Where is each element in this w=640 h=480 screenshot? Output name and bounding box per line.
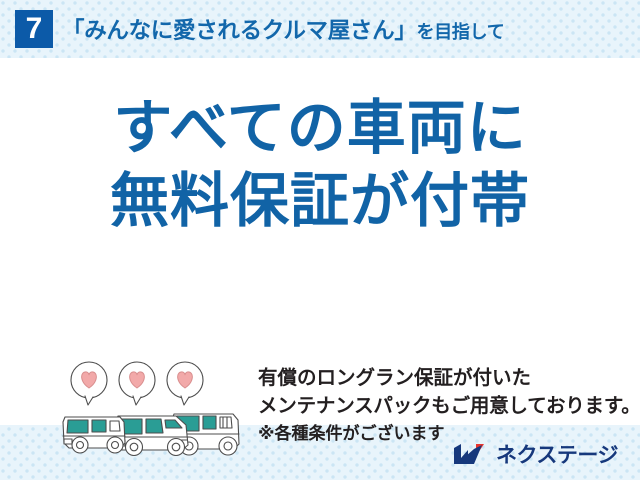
content-card: すべての車両に 無料保証が付帯 [0,58,640,425]
headline-line-1: すべての車両に [0,98,640,157]
heart-bubble-1 [71,362,107,405]
header-band: 7 「みんなに愛されるクルマ屋さん」を目指して [0,0,640,58]
brand-lockup: ネクステージ [454,439,618,469]
heart-bubble-3 [167,362,203,405]
header-title: 「みんなに愛されるクルマ屋さん」を目指して [62,13,505,45]
header-title-quoted: 「みんなに愛されるクルマ屋さん」 [62,18,417,43]
headline-line-2: 無料保証が付帯 [0,171,640,230]
description-line-2: メンテナンスパックもご用意しております。 [258,392,638,420]
nexstage-logo-icon [454,442,488,466]
header-title-suffix: を目指して [417,22,505,42]
brand-name: ネクステージ [496,439,618,469]
promotional-poster: 7 「みんなに愛されるクルマ屋さん」を目指して すべての車両に 無料保証が付帯 [0,0,640,480]
heart-bubble-2 [119,362,155,405]
description-line-1: 有償のロングラン保証が付いた [258,364,638,392]
footer-band: ネクステージ [0,425,640,480]
page-title: すべての車両に 無料保証が付帯 [0,98,640,230]
section-number-badge: 7 [15,10,53,48]
